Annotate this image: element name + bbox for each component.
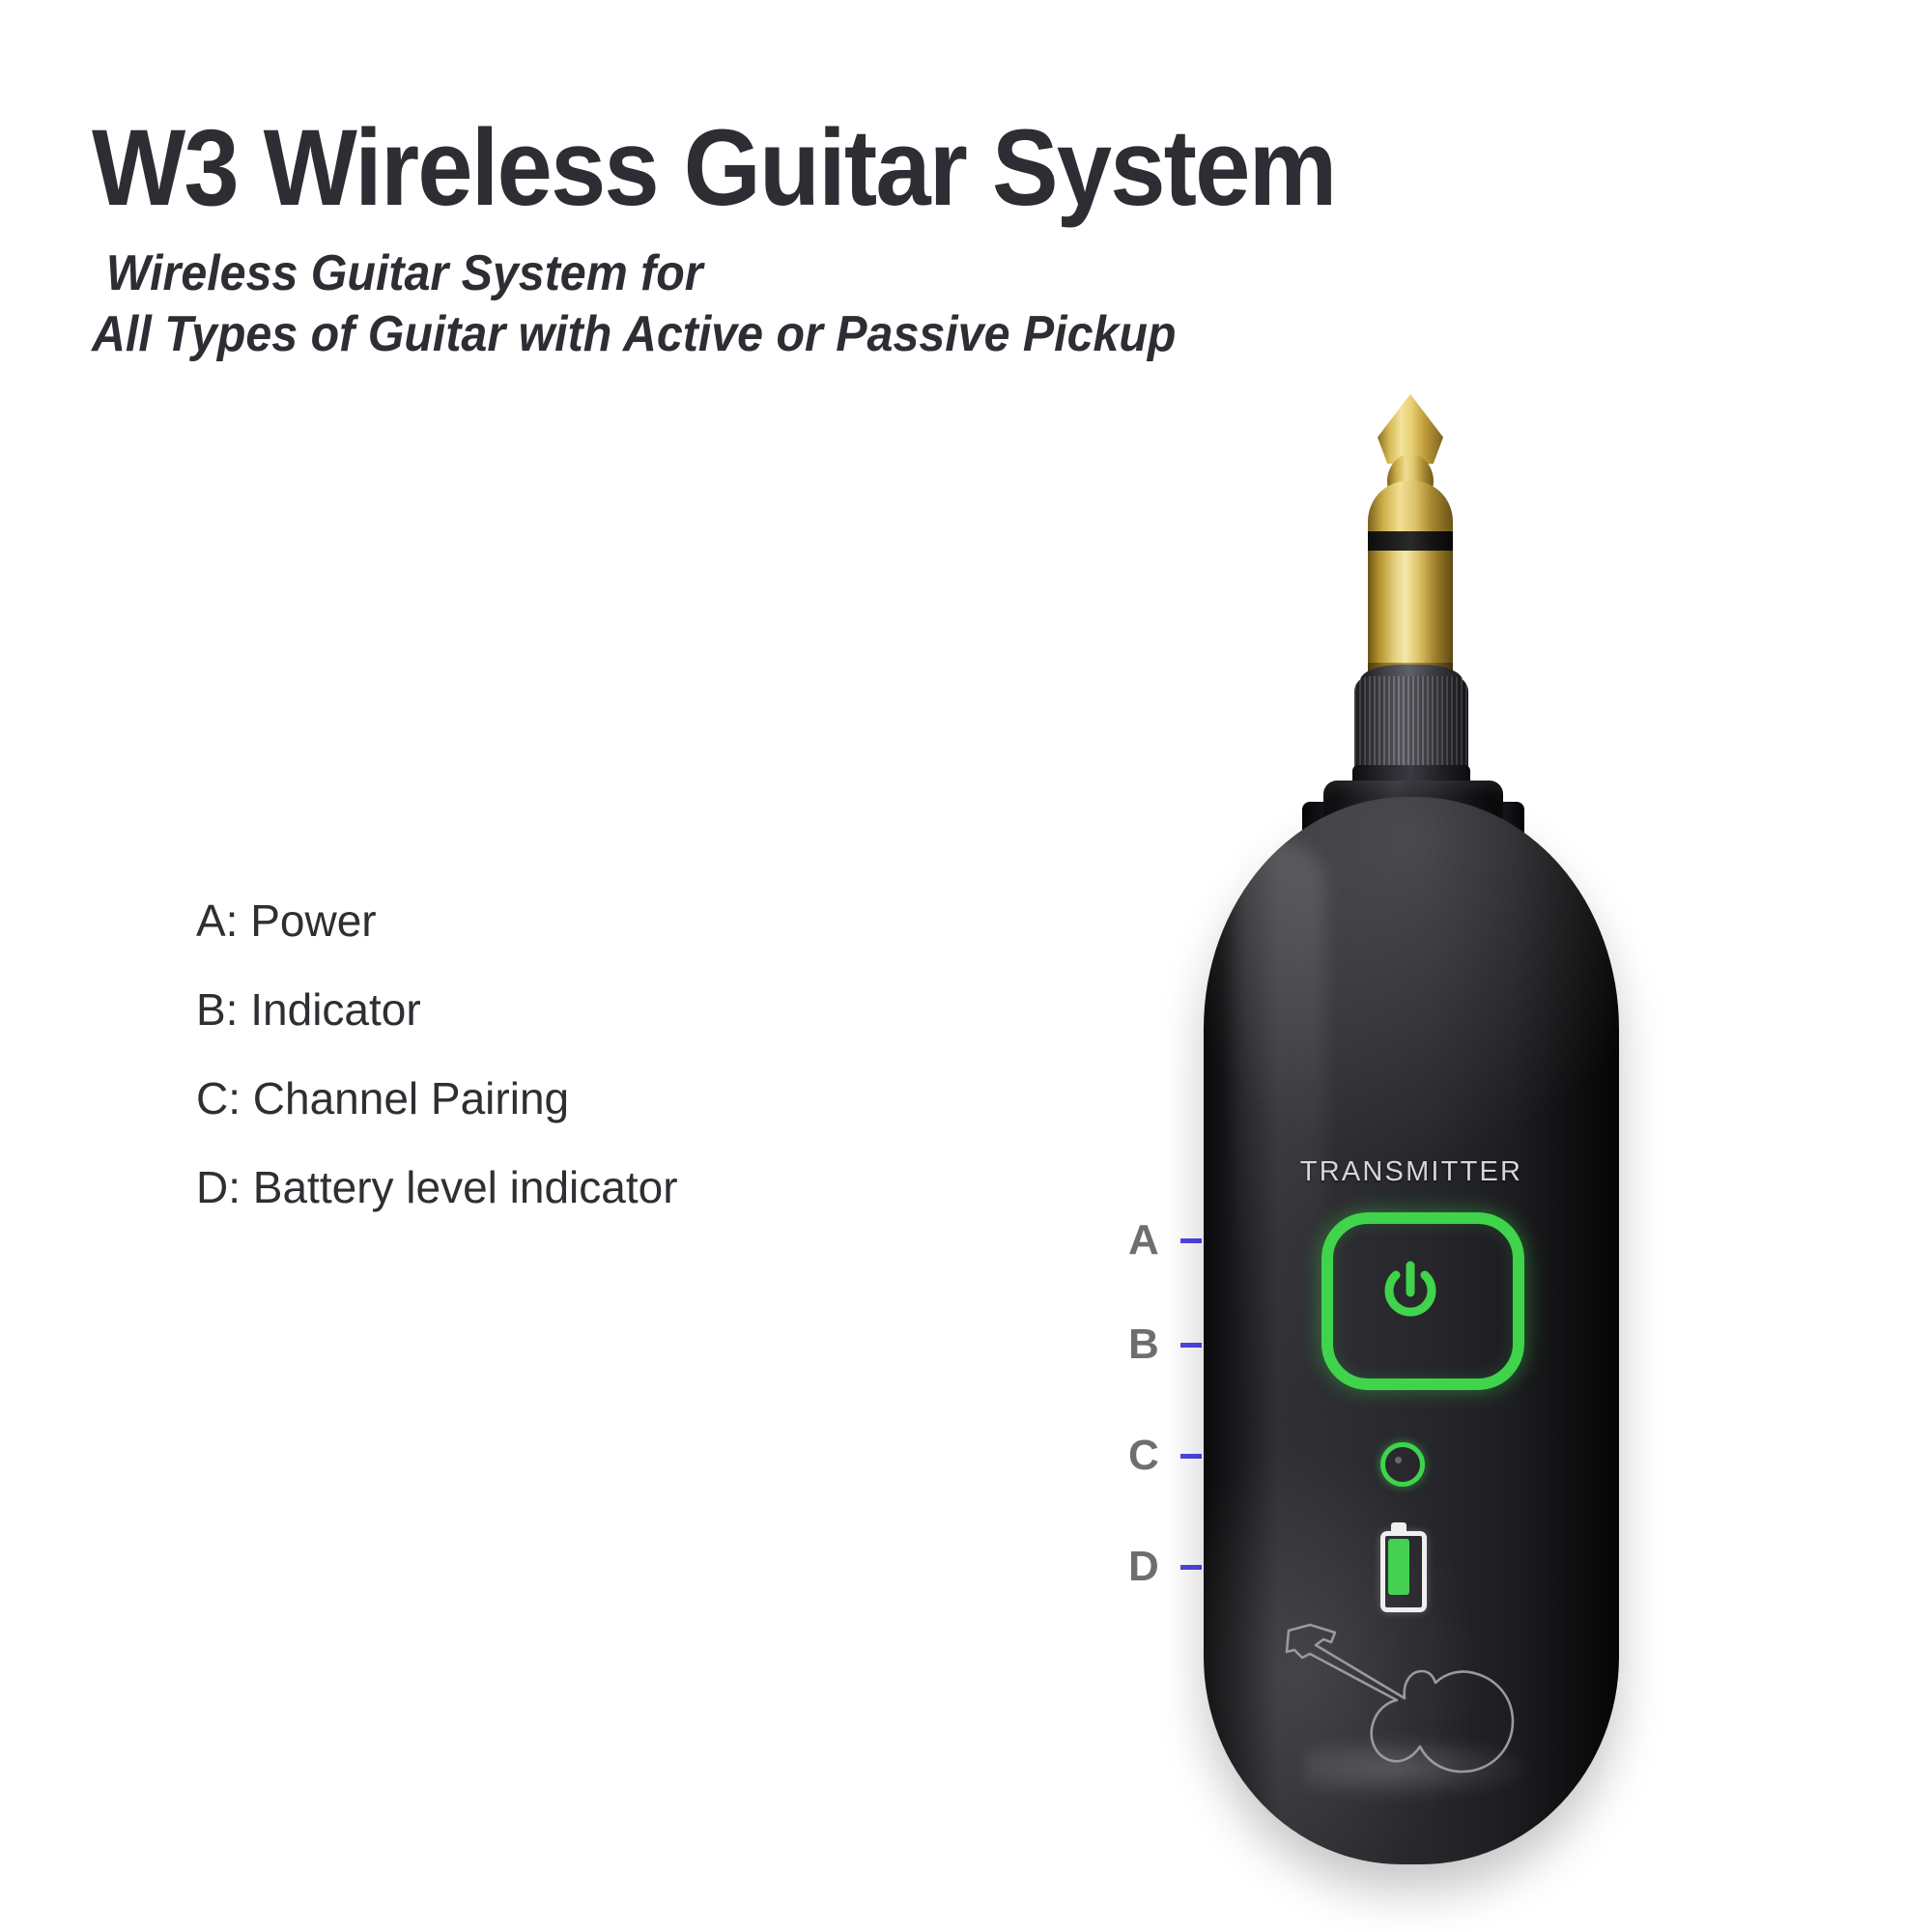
callout-letter-b: B <box>1128 1323 1167 1366</box>
infographic-canvas: W3 Wireless Guitar System Wireless Guita… <box>0 0 1932 1932</box>
battery-level-fill <box>1388 1539 1409 1595</box>
callout-letter-c: C <box>1128 1435 1167 1477</box>
jack-shoulder <box>1368 481 1453 539</box>
header: W3 Wireless Guitar System Wireless Guita… <box>92 114 1831 366</box>
subtitle-line-2: All Types of Guitar with Active or Passi… <box>92 304 1709 365</box>
callout-letter-a: A <box>1128 1219 1167 1262</box>
subtitle-line-1: Wireless Guitar System for <box>106 243 1709 304</box>
jack-insulator-ring <box>1368 531 1453 553</box>
channel-pairing-led-center <box>1395 1457 1402 1463</box>
transmitter-device: TRANSMITTER <box>1188 386 1633 1893</box>
guitar-outline-icon <box>1281 1613 1532 1789</box>
knurled-collar[interactable] <box>1354 676 1468 775</box>
callout-letter-d: D <box>1128 1546 1167 1588</box>
device-body-highlight <box>1233 840 1325 1439</box>
legend-item-battery: D: Battery level indicator <box>196 1165 930 1209</box>
jack-shaft <box>1368 551 1453 668</box>
channel-pairing-led-icon[interactable] <box>1380 1442 1425 1487</box>
page-subtitle: Wireless Guitar System for All Types of … <box>92 243 1709 366</box>
legend-item-power: A: Power <box>196 898 930 943</box>
power-symbol-icon <box>1374 1256 1447 1329</box>
legend-list: A: Power B: Indicator C: Channel Pairing… <box>196 898 930 1254</box>
legend-item-channel-pairing: C: Channel Pairing <box>196 1076 930 1121</box>
page-title: W3 Wireless Guitar System <box>92 114 1691 222</box>
legend-item-indicator: B: Indicator <box>196 987 930 1032</box>
transmitter-label: TRANSMITTER <box>1204 1156 1619 1188</box>
